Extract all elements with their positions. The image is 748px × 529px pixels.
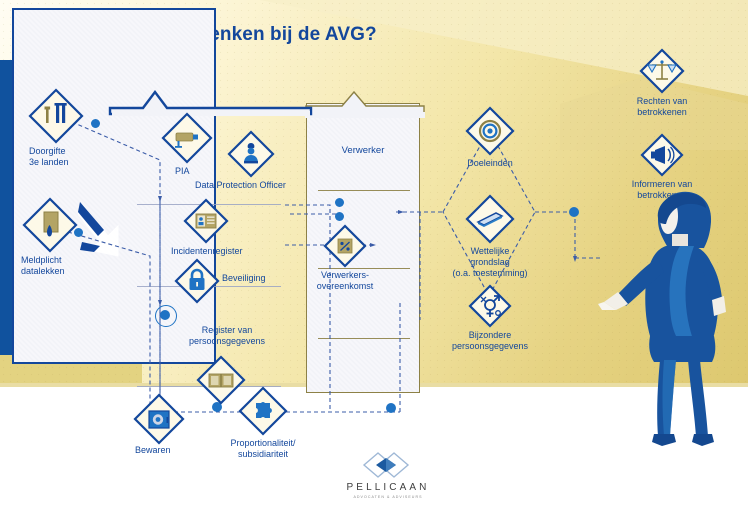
logo-tagline: ADVOCATEN & ADVISEURS (340, 495, 436, 499)
node-label: persoonsgegevens (438, 341, 542, 352)
pellicaan-diamonds-logo (360, 450, 416, 480)
verwerker-rule-2 (318, 268, 410, 269)
node-label: datalekken (21, 266, 65, 277)
businesswoman-pointing-figure (596, 186, 746, 456)
padlock-icon (174, 258, 220, 304)
node-label: Doorgifte (29, 146, 66, 157)
node-label: Register van (172, 325, 282, 336)
card-main-organisation (0, 0, 216, 364)
scales-of-justice-icon (639, 48, 685, 94)
node-label: Proportionaliteit/ (210, 438, 316, 449)
node-label: PIA (175, 166, 190, 177)
verwerker-rule-3 (318, 338, 410, 339)
incoming-arrow-icon (78, 200, 128, 262)
node-label: grondslag (439, 257, 541, 268)
node-label: Rechten van (625, 96, 699, 107)
safe-vault-icon (133, 393, 185, 445)
node-label: (o.a. toestemming) (439, 268, 541, 279)
node-label: Doeleinden (449, 158, 531, 169)
verwerker-rule-1 (318, 190, 410, 191)
node-label: Verwerkers- (305, 270, 385, 281)
logo-wordmark: PELLICAAN (340, 482, 436, 493)
connector-dot (160, 310, 170, 320)
connector-dot (386, 403, 396, 413)
node-label: Beveiliging (222, 273, 266, 284)
gender-dna-icon (468, 284, 512, 328)
node-label: Bijzondere (438, 330, 542, 341)
flag-posts-icon (28, 88, 84, 144)
card-verwerker-tab (300, 88, 430, 118)
connector-dot (335, 212, 344, 221)
node-label: Bewaren (135, 445, 171, 456)
node-label: Incidentenregister (171, 246, 243, 257)
node-label: Wettelijke (439, 246, 541, 257)
megaphone-icon (640, 133, 684, 177)
cctv-camera-icon (161, 112, 213, 164)
target-bullseye-icon (465, 106, 515, 156)
node-label: betrokkenen (625, 107, 699, 118)
node-label: subsidiariteit (210, 449, 316, 460)
company-logo: PELLICAAN ADVOCATEN & ADVISEURS (340, 450, 436, 499)
data-leak-drop-icon (22, 197, 78, 253)
register-book-icon (183, 198, 229, 244)
officer-person-icon (227, 130, 275, 178)
card-main-body (12, 8, 216, 364)
node-label: Data Protection Officer (195, 180, 286, 191)
connector-dot (569, 207, 579, 217)
card-texture (14, 10, 214, 362)
node-label: persoonsgegevens (172, 336, 282, 347)
card-verwerker-label: Verwerker (306, 145, 420, 156)
law-book-icon (465, 194, 515, 244)
node-label: 3e landen (29, 157, 69, 168)
contract-percent-icon (323, 224, 367, 268)
connector-dot (91, 119, 100, 128)
connector-dot (335, 198, 344, 207)
node-label: overeenkomst (305, 281, 385, 292)
infographic-canvas: Waar moet je aan denken bij de AVG? Verw… (0, 0, 748, 529)
node-label: Meldplicht (21, 255, 62, 266)
puzzle-piece-icon (238, 386, 288, 436)
